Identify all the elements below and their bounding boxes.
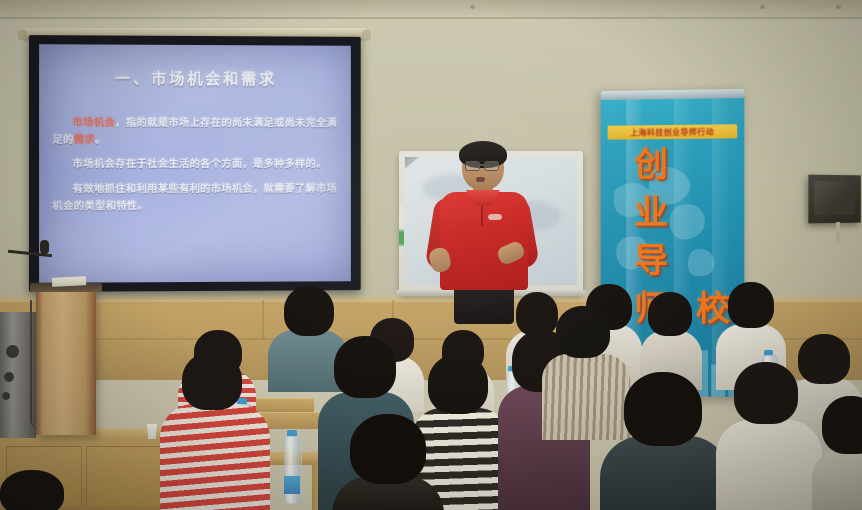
banner-header-text: 上海科技创业导师行动 — [630, 126, 714, 138]
screen-roller-cap — [362, 30, 371, 40]
presenter — [432, 144, 536, 314]
audience-member — [640, 292, 702, 374]
audience-member — [812, 396, 862, 510]
ceiling-fixture-icon — [470, 5, 475, 9]
banner-char-1: 创 — [634, 148, 668, 182]
green-marker-icon[interactable] — [399, 205, 404, 267]
lecture-hall-photo: 一、市场机会和需求 市场机会，指的就是市场上存在的尚未满足或尚未完全满足的需求。… — [0, 0, 862, 510]
wainscot-seam — [262, 300, 264, 340]
audience-member — [716, 362, 822, 510]
presenter-shirt-logo-icon — [488, 214, 502, 220]
rack-knob-icon[interactable] — [4, 372, 14, 382]
ceiling-fixture-icon — [836, 5, 841, 9]
rack-knob-icon[interactable] — [6, 345, 19, 358]
audience-member — [332, 414, 444, 510]
banner-char-3: 导 — [634, 244, 668, 278]
banner-header-strip: 上海科技创业导师行动 — [608, 124, 738, 139]
rack-knob-icon[interactable] — [2, 392, 10, 400]
banner-char-2: 业 — [634, 196, 668, 230]
wall-speaker — [808, 175, 860, 224]
presenter-mouth — [476, 177, 485, 182]
podium-papers — [52, 276, 86, 287]
ceiling-band — [0, 0, 862, 18]
screen-roller-cap — [18, 30, 27, 40]
screen-vignette — [39, 44, 351, 283]
projection-screen: 一、市场机会和需求 市场机会，指的就是市场上存在的尚未满足或尚未完全满足的需求。… — [29, 35, 361, 292]
power-cable — [30, 300, 46, 428]
audience-member — [0, 470, 70, 510]
world-map-watermark-icon — [609, 149, 741, 300]
glasses-icon — [484, 161, 499, 171]
ceiling-moulding — [0, 17, 862, 19]
glasses-bridge-icon — [478, 164, 485, 166]
microphone-icon — [40, 240, 49, 254]
stage-panel — [86, 446, 162, 508]
audience-member — [600, 372, 730, 510]
audience-member — [160, 352, 270, 510]
water-bottle[interactable] — [282, 430, 302, 502]
projected-slide: 一、市场机会和需求 市场机会，指的就是市场上存在的尚未满足或尚未完全满足的需求。… — [39, 44, 351, 283]
ceiling-fixture-icon — [760, 5, 765, 9]
presenter-trousers — [454, 284, 514, 324]
glasses-icon — [465, 161, 480, 171]
speaker-bracket — [836, 222, 840, 242]
speaker-cone-icon — [814, 181, 855, 215]
